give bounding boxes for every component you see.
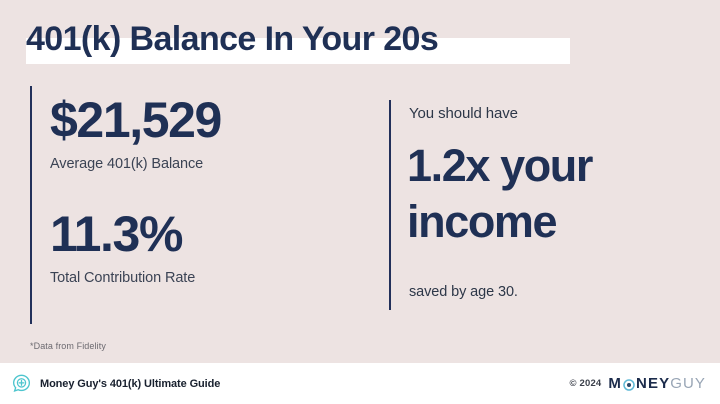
right-column-rule	[389, 100, 391, 310]
stat-average-balance-value: $21,529	[50, 92, 221, 148]
infographic-canvas: 401(k) Balance In Your 20s $21,529 Avera…	[0, 0, 720, 404]
left-column-rule	[30, 86, 32, 324]
stat-contribution-rate: 11.3% Total Contribution Rate	[50, 206, 195, 288]
left-stat-column: $21,529 Average 401(k) Balance 11.3% Tot…	[30, 86, 360, 324]
page-title: 401(k) Balance In Your 20s	[26, 16, 438, 62]
copyright-text: © 2024	[569, 378, 601, 389]
brand-guy: GUY	[670, 375, 706, 392]
source-note: *Data from Fidelity	[30, 340, 106, 352]
brand-money-ney: NEY	[636, 375, 670, 392]
page-title-container: 401(k) Balance In Your 20s	[26, 16, 438, 62]
stat-average-balance-label: Average 401(k) Balance	[50, 154, 221, 174]
stat-contribution-rate-value: 11.3%	[50, 206, 195, 262]
footer-bar: Money Guy's 401(k) Ultimate Guide © 2024…	[0, 363, 720, 404]
benchmark-lede: You should have	[409, 104, 518, 124]
brand-money-m: M	[608, 375, 622, 392]
stat-average-balance: $21,529 Average 401(k) Balance	[50, 92, 221, 174]
footer-brand-block: © 2024 M NEY GUY	[569, 375, 706, 392]
target-o-icon	[623, 378, 635, 390]
footer-guide-label: Money Guy's 401(k) Ultimate Guide	[40, 378, 220, 390]
benchmark-headline: 1.2x your income	[407, 138, 707, 250]
right-benchmark-column: You should have 1.2x your income saved b…	[389, 100, 709, 310]
plus-bubble-icon	[12, 374, 31, 393]
benchmark-subline: saved by age 30.	[409, 282, 518, 302]
footer-guide-link[interactable]: Money Guy's 401(k) Ultimate Guide	[12, 374, 220, 393]
moneyguy-logo[interactable]: M NEY GUY	[608, 375, 706, 392]
stat-contribution-rate-label: Total Contribution Rate	[50, 268, 195, 288]
